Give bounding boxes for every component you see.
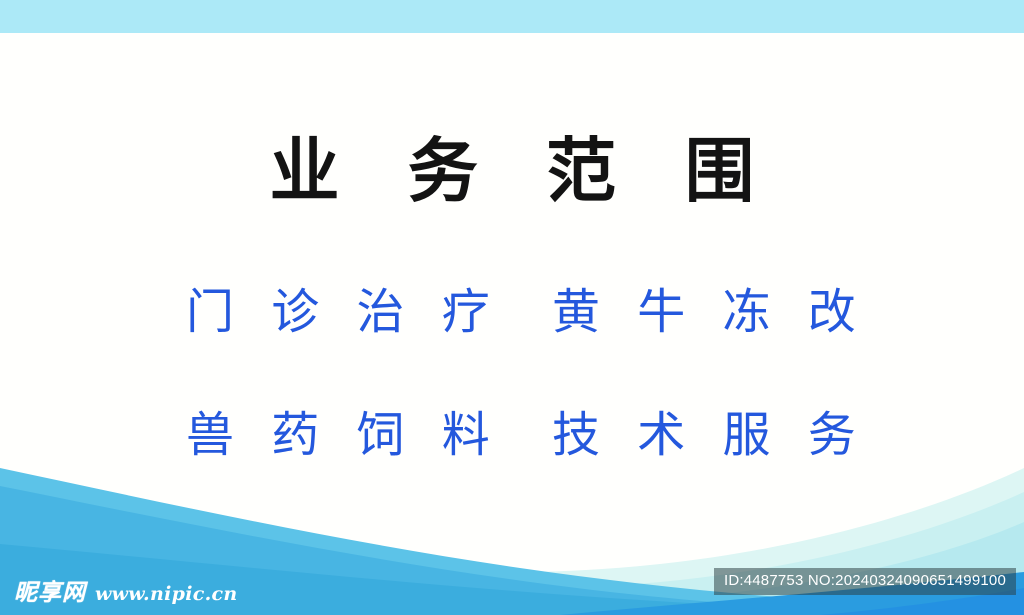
image-id-strip: ID:4487753 NO:20240324090651499100 xyxy=(714,568,1016,595)
top-accent-band xyxy=(0,0,1024,33)
service-list: 门 诊 治 疗 黄 牛 冻 改 兽 药 饲 料 技 术 服 务 xyxy=(150,281,874,466)
watermark-url: www.nipic.cn xyxy=(95,583,237,605)
watermark: 昵享网 www.nipic.cn xyxy=(14,580,237,606)
watermark-logo: 昵享网 xyxy=(14,580,86,606)
service-item-cattle-freezing: 黄 牛 冻 改 xyxy=(508,283,874,341)
service-item-outpatient-treatment: 门 诊 治 疗 xyxy=(150,283,508,341)
business-scope-poster: 业 务 范 围 门 诊 治 疗 黄 牛 冻 改 兽 药 饲 料 技 术 服 务 xyxy=(0,0,1024,615)
page-title: 业 务 范 围 xyxy=(0,129,1024,213)
service-row: 门 诊 治 疗 黄 牛 冻 改 xyxy=(150,281,874,343)
